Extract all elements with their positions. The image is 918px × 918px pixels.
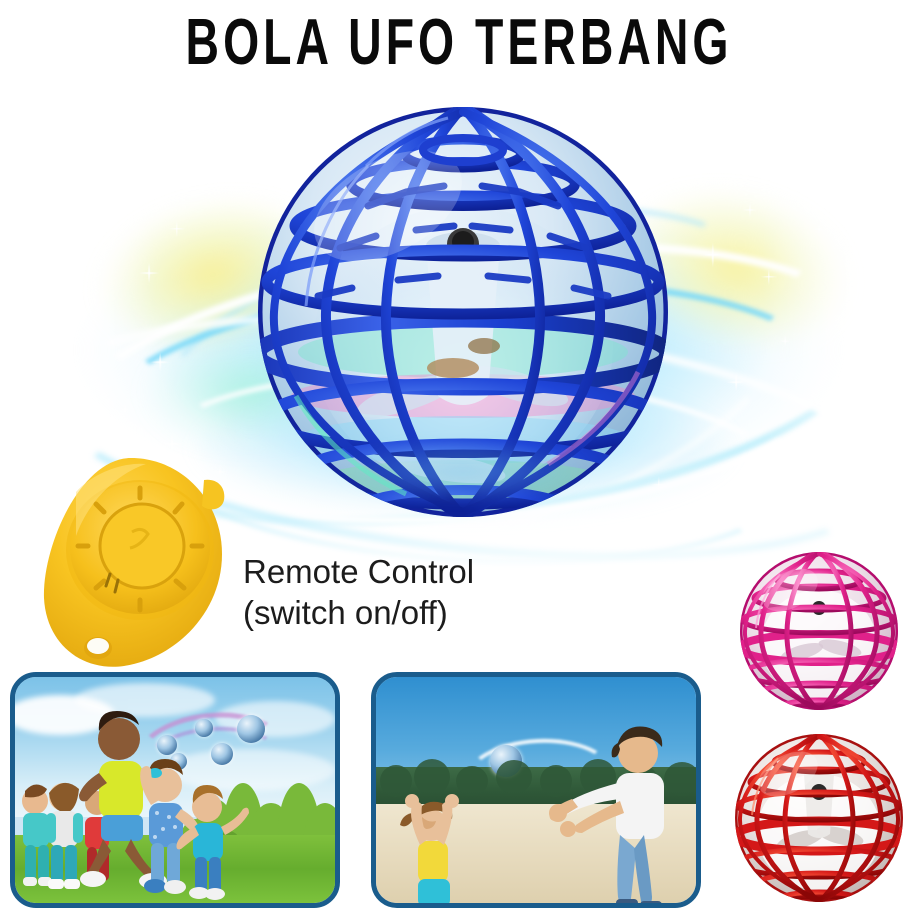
remote-control-product (36, 452, 228, 674)
red-ball-svg (730, 730, 908, 906)
child-figure (177, 785, 250, 900)
ball-glow-shadow (288, 426, 638, 516)
person-adult (549, 726, 664, 908)
park-children-group (15, 677, 340, 908)
remote-label-line2: (switch on/off) (243, 592, 543, 633)
remote-control-svg (36, 452, 228, 674)
pink-ball-svg (736, 548, 902, 714)
remote-label-line1: Remote Control (243, 551, 543, 592)
beach-people-group (376, 677, 701, 908)
page-title: BOLA UFO TERBANG (92, 8, 826, 77)
product-ad-canvas: BOLA UFO TERBANG (0, 0, 918, 918)
child-figure (46, 783, 83, 889)
person-child (400, 794, 459, 907)
remote-control-label: Remote Control (switch on/off) (243, 551, 543, 633)
variant-pink-ball[interactable] (736, 548, 902, 714)
photo-panel-kids-playing-park[interactable] (10, 672, 340, 908)
photo-panel-beach-catch[interactable] (371, 672, 701, 908)
variant-red-ball[interactable] (730, 730, 908, 906)
main-product-flying-ball (248, 96, 678, 532)
